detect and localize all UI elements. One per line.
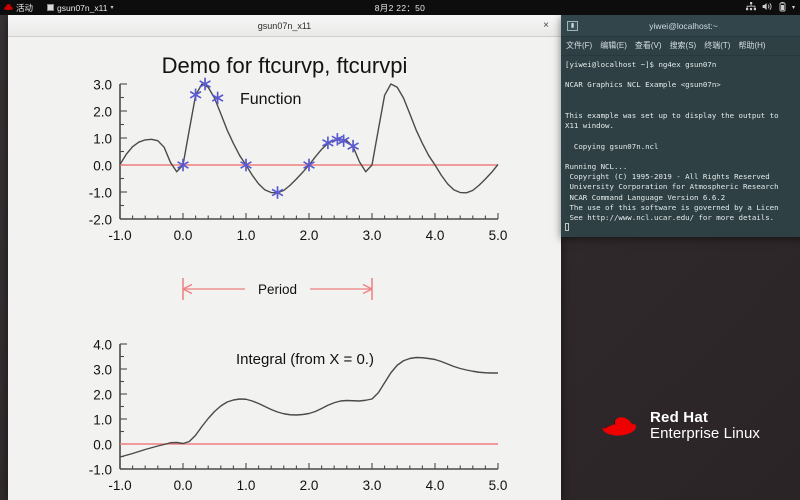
x-tick-label: 3.0 bbox=[363, 228, 382, 243]
plot-panel-function-plot: -2.0-1.00.01.02.03.0-1.00.01.02.03.04.05… bbox=[89, 78, 508, 244]
terminal-line: See http://www.ncl.ucar.edu/ for more de… bbox=[565, 213, 800, 223]
data-point-marker bbox=[190, 89, 201, 101]
y-tick-label: 4.0 bbox=[93, 338, 112, 353]
plot-panel-integral-plot: -1.00.01.02.03.04.0-1.00.01.02.03.04.05.… bbox=[89, 338, 508, 494]
menu-file[interactable]: 文件(F) bbox=[566, 40, 592, 51]
volume-icon[interactable] bbox=[762, 2, 773, 13]
y-tick-label: 3.0 bbox=[93, 363, 112, 378]
menu-search[interactable]: 搜索(S) bbox=[670, 40, 697, 51]
terminal-line: [yiwei@localhost ~]$ ng4ex gsun07n bbox=[565, 60, 800, 70]
terminal-menubar[interactable]: 文件(F) 编辑(E) 查看(V) 搜索(S) 终端(T) 帮助(H) bbox=[561, 37, 800, 56]
terminal-line bbox=[565, 70, 800, 80]
period-label: Period bbox=[258, 282, 297, 297]
x-tick-label: 5.0 bbox=[489, 478, 508, 493]
terminal-titlebar[interactable]: ▮ yiwei@localhost:~ bbox=[561, 15, 800, 37]
terminal-line: Running NCL... bbox=[565, 162, 800, 172]
x11-window-title: gsun07n_x11 bbox=[258, 21, 311, 31]
terminal-line bbox=[565, 101, 800, 111]
menu-help[interactable]: 帮助(H) bbox=[738, 40, 765, 51]
y-tick-label: -2.0 bbox=[89, 213, 112, 228]
x-tick-label: 4.0 bbox=[426, 228, 445, 243]
terminal-line: NCAR Graphics NCL Example <gsun07n> bbox=[565, 80, 800, 90]
y-tick-label: 0.0 bbox=[93, 159, 112, 174]
terminal-cursor bbox=[565, 223, 800, 233]
plot-label: Function bbox=[240, 91, 301, 108]
redhat-fedora-icon bbox=[597, 411, 641, 441]
y-tick-label: 1.0 bbox=[93, 132, 112, 147]
terminal-line: Copying gsun07n.ncl bbox=[565, 142, 800, 152]
clock[interactable]: 8月2 22：50 bbox=[0, 2, 800, 14]
terminal-line bbox=[565, 152, 800, 162]
x-tick-label: 2.0 bbox=[300, 228, 319, 243]
terminal-line bbox=[565, 91, 800, 101]
gnome-topbar[interactable]: 活动 gsun07n_x11 ▾ 8月2 22：50 ▾ bbox=[0, 0, 800, 15]
terminal-line: X11 window. bbox=[565, 121, 800, 131]
y-tick-label: 1.0 bbox=[93, 413, 112, 428]
x-tick-label: 0.0 bbox=[174, 478, 193, 493]
x-tick-label: 2.0 bbox=[300, 478, 319, 493]
data-curve bbox=[120, 358, 498, 458]
y-tick-label: 0.0 bbox=[93, 438, 112, 453]
data-point-marker bbox=[348, 140, 359, 152]
menu-edit[interactable]: 编辑(E) bbox=[600, 40, 627, 51]
x-tick-label: -1.0 bbox=[108, 228, 131, 243]
redhat-watermark: Red Hat Enterprise Linux bbox=[597, 410, 760, 442]
system-tray[interactable]: ▾ bbox=[746, 2, 795, 14]
battery-icon[interactable] bbox=[779, 2, 786, 14]
x-tick-label: 5.0 bbox=[489, 228, 508, 243]
terminal-line bbox=[565, 131, 800, 141]
terminal-window[interactable]: ▮ yiwei@localhost:~ 文件(F) 编辑(E) 查看(V) 搜索… bbox=[561, 15, 800, 237]
watermark-line2: Enterprise Linux bbox=[650, 426, 760, 442]
x-tick-label: 3.0 bbox=[363, 478, 382, 493]
x11-plot-window[interactable]: gsun07n_x11 × Demo for ftcurvp, ftcurvpi… bbox=[8, 15, 561, 500]
period-annotation: Period bbox=[183, 278, 372, 300]
y-tick-label: -1.0 bbox=[89, 463, 112, 478]
x-tick-label: 1.0 bbox=[237, 478, 256, 493]
x-tick-label: 0.0 bbox=[174, 228, 193, 243]
y-tick-label: 2.0 bbox=[93, 105, 112, 120]
x-tick-label: -1.0 bbox=[108, 478, 131, 493]
x11-canvas: Demo for ftcurvp, ftcurvpi -2.0-1.00.01.… bbox=[8, 37, 561, 500]
terminal-line: The use of this software is governed by … bbox=[565, 203, 800, 213]
terminal-line: Copyright (C) 1995-2019 - All Rights Res… bbox=[565, 172, 800, 182]
terminal-title: yiwei@localhost:~ bbox=[561, 21, 800, 31]
data-curve bbox=[120, 84, 498, 193]
y-tick-label: -1.0 bbox=[89, 186, 112, 201]
ncl-plot-area: -2.0-1.00.01.02.03.0-1.00.01.02.03.04.05… bbox=[8, 37, 561, 500]
menu-view[interactable]: 查看(V) bbox=[635, 40, 662, 51]
y-tick-label: 2.0 bbox=[93, 388, 112, 403]
plot-label: Integral (from X = 0.) bbox=[236, 351, 374, 368]
terminal-line: This example was set up to display the o… bbox=[565, 111, 800, 121]
x-tick-label: 1.0 bbox=[237, 228, 256, 243]
chevron-down-icon[interactable]: ▾ bbox=[792, 4, 795, 11]
menu-terminal[interactable]: 终端(T) bbox=[704, 40, 730, 51]
network-icon[interactable] bbox=[746, 2, 756, 13]
terminal-output[interactable]: [yiwei@localhost ~]$ ng4ex gsun07n NCAR … bbox=[561, 56, 800, 233]
watermark-line1: Red Hat bbox=[650, 410, 760, 426]
close-icon[interactable]: × bbox=[539, 19, 553, 33]
terminal-line: University Corporation for Atmospheric R… bbox=[565, 182, 800, 192]
x11-titlebar[interactable]: gsun07n_x11 × bbox=[8, 15, 561, 37]
terminal-line: NCAR Command Language Version 6.6.2 bbox=[565, 193, 800, 203]
x-tick-label: 4.0 bbox=[426, 478, 445, 493]
y-tick-label: 3.0 bbox=[93, 78, 112, 93]
screen-root: Red Hat Enterprise Linux ▮ yiwei@localho… bbox=[0, 0, 800, 500]
